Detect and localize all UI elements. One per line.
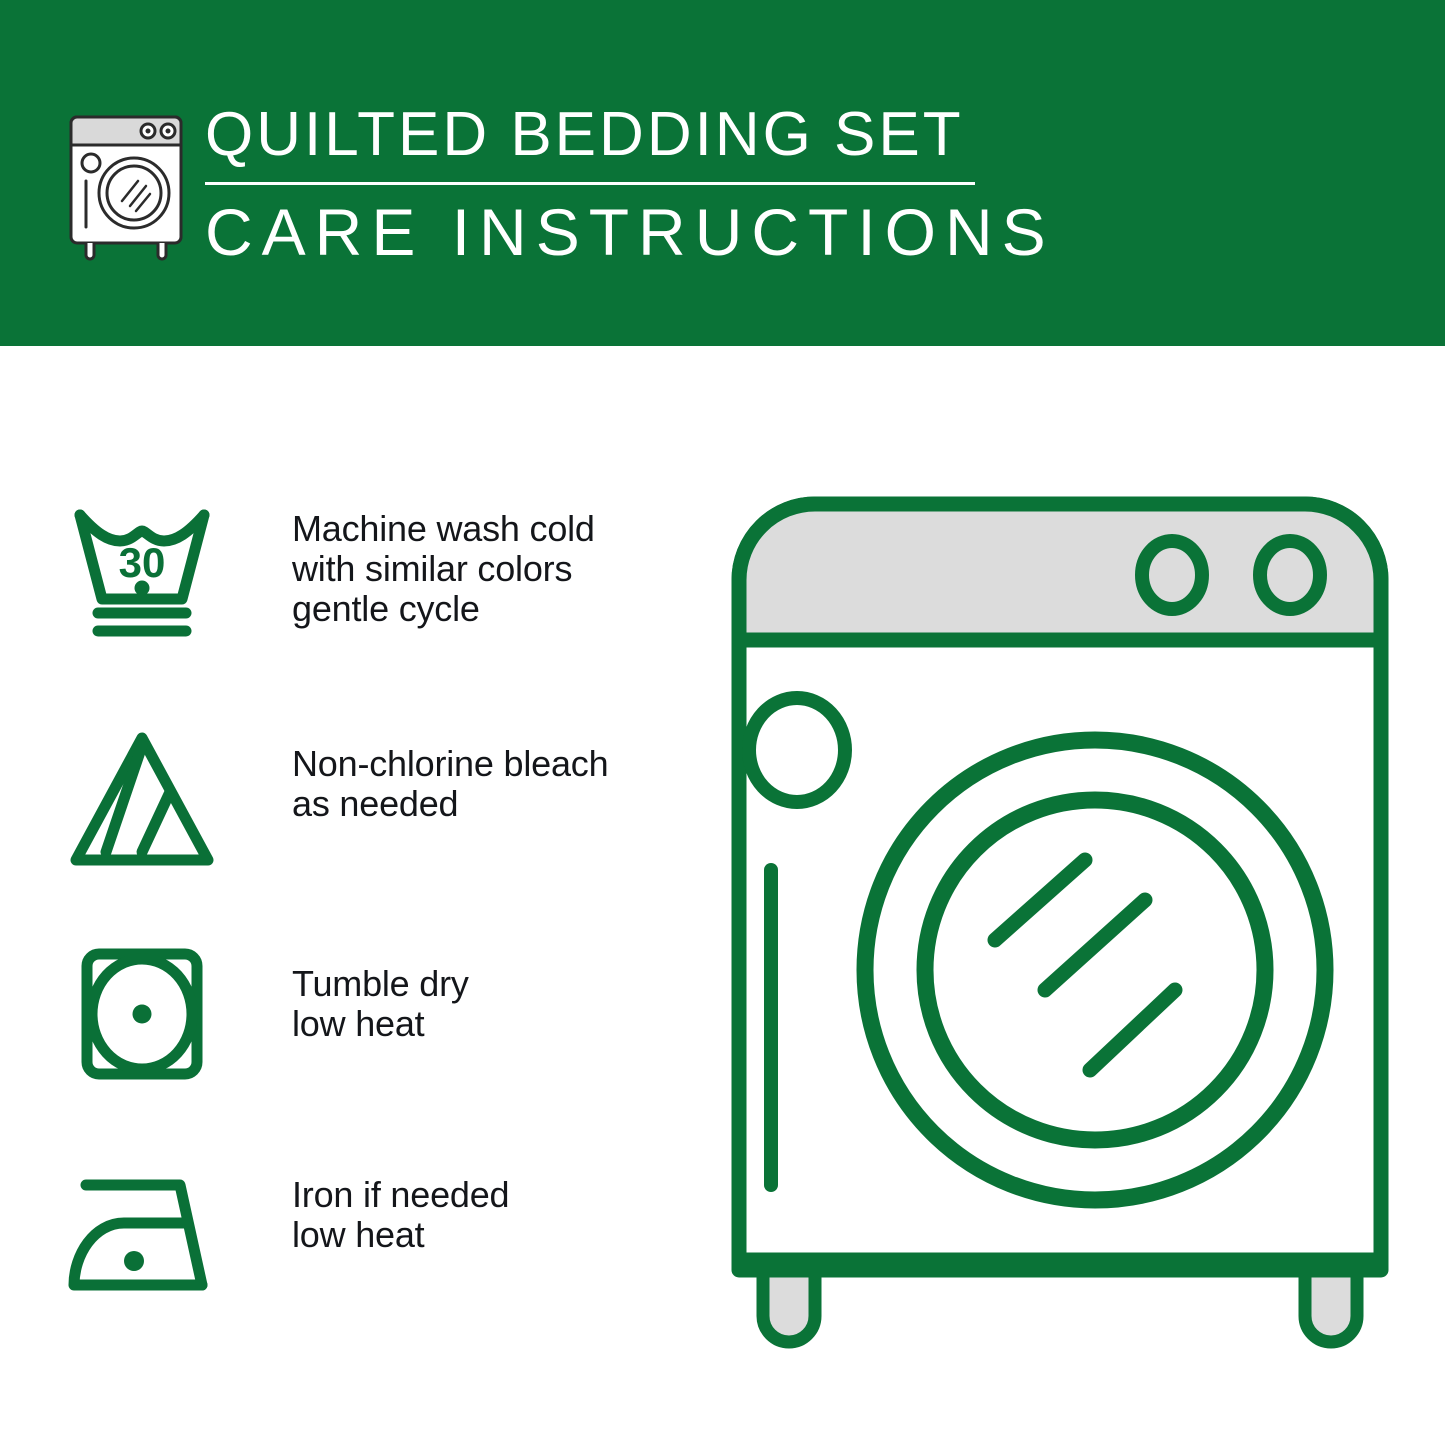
indicator-light xyxy=(749,698,845,802)
care-row-tumble-dry: Tumble dry low heat xyxy=(62,932,682,1094)
bleach-triangle-icon xyxy=(62,720,222,880)
care-row-bleach: Non-chlorine bleach as needed xyxy=(62,714,682,880)
care-text-tumble-dry: Tumble dry low heat xyxy=(222,932,682,1044)
care-line: Tumble dry xyxy=(292,964,682,1004)
page-subtitle: CARE INSTRUCTIONS xyxy=(205,199,995,265)
header-band: QUILTED BEDDING SET CARE INSTRUCTIONS xyxy=(0,0,1445,346)
control-knob-left xyxy=(1142,541,1202,609)
care-line: as needed xyxy=(292,784,682,824)
title-divider xyxy=(205,182,975,185)
care-line: Non-chlorine bleach xyxy=(292,744,682,784)
washing-machine-icon xyxy=(62,103,190,263)
header-text-block: QUILTED BEDDING SET CARE INSTRUCTIONS xyxy=(205,104,995,265)
wash-temperature-label: 30 xyxy=(119,539,166,586)
care-row-iron: Iron if needed low heat xyxy=(62,1143,682,1311)
front-load-washing-machine-illustration xyxy=(705,470,1415,1380)
care-line: with similar colors xyxy=(292,549,682,589)
care-text-bleach: Non-chlorine bleach as needed xyxy=(222,714,682,824)
page-title: QUILTED BEDDING SET xyxy=(205,104,995,166)
care-text-iron: Iron if needed low heat xyxy=(222,1143,682,1255)
care-instructions-list: 30 Machine wash cold with similar colors… xyxy=(0,346,700,1445)
care-line: low heat xyxy=(292,1004,682,1044)
care-line: Machine wash cold xyxy=(292,509,682,549)
wash-tub-30-icon: 30 xyxy=(62,489,222,649)
tumble-dry-low-icon xyxy=(62,934,222,1094)
care-row-machine-wash: 30 Machine wash cold with similar colors… xyxy=(62,495,682,649)
care-line: low heat xyxy=(292,1215,682,1255)
care-text-machine-wash: Machine wash cold with similar colors ge… xyxy=(222,495,682,629)
control-knob-right xyxy=(1260,541,1320,609)
iron-low-heat-icon xyxy=(62,1151,222,1311)
care-line: gentle cycle xyxy=(292,589,682,629)
drum-inner-ring xyxy=(925,800,1265,1140)
care-instructions-page: QUILTED BEDDING SET CARE INSTRUCTIONS xyxy=(0,0,1445,1445)
care-line: Iron if needed xyxy=(292,1175,682,1215)
